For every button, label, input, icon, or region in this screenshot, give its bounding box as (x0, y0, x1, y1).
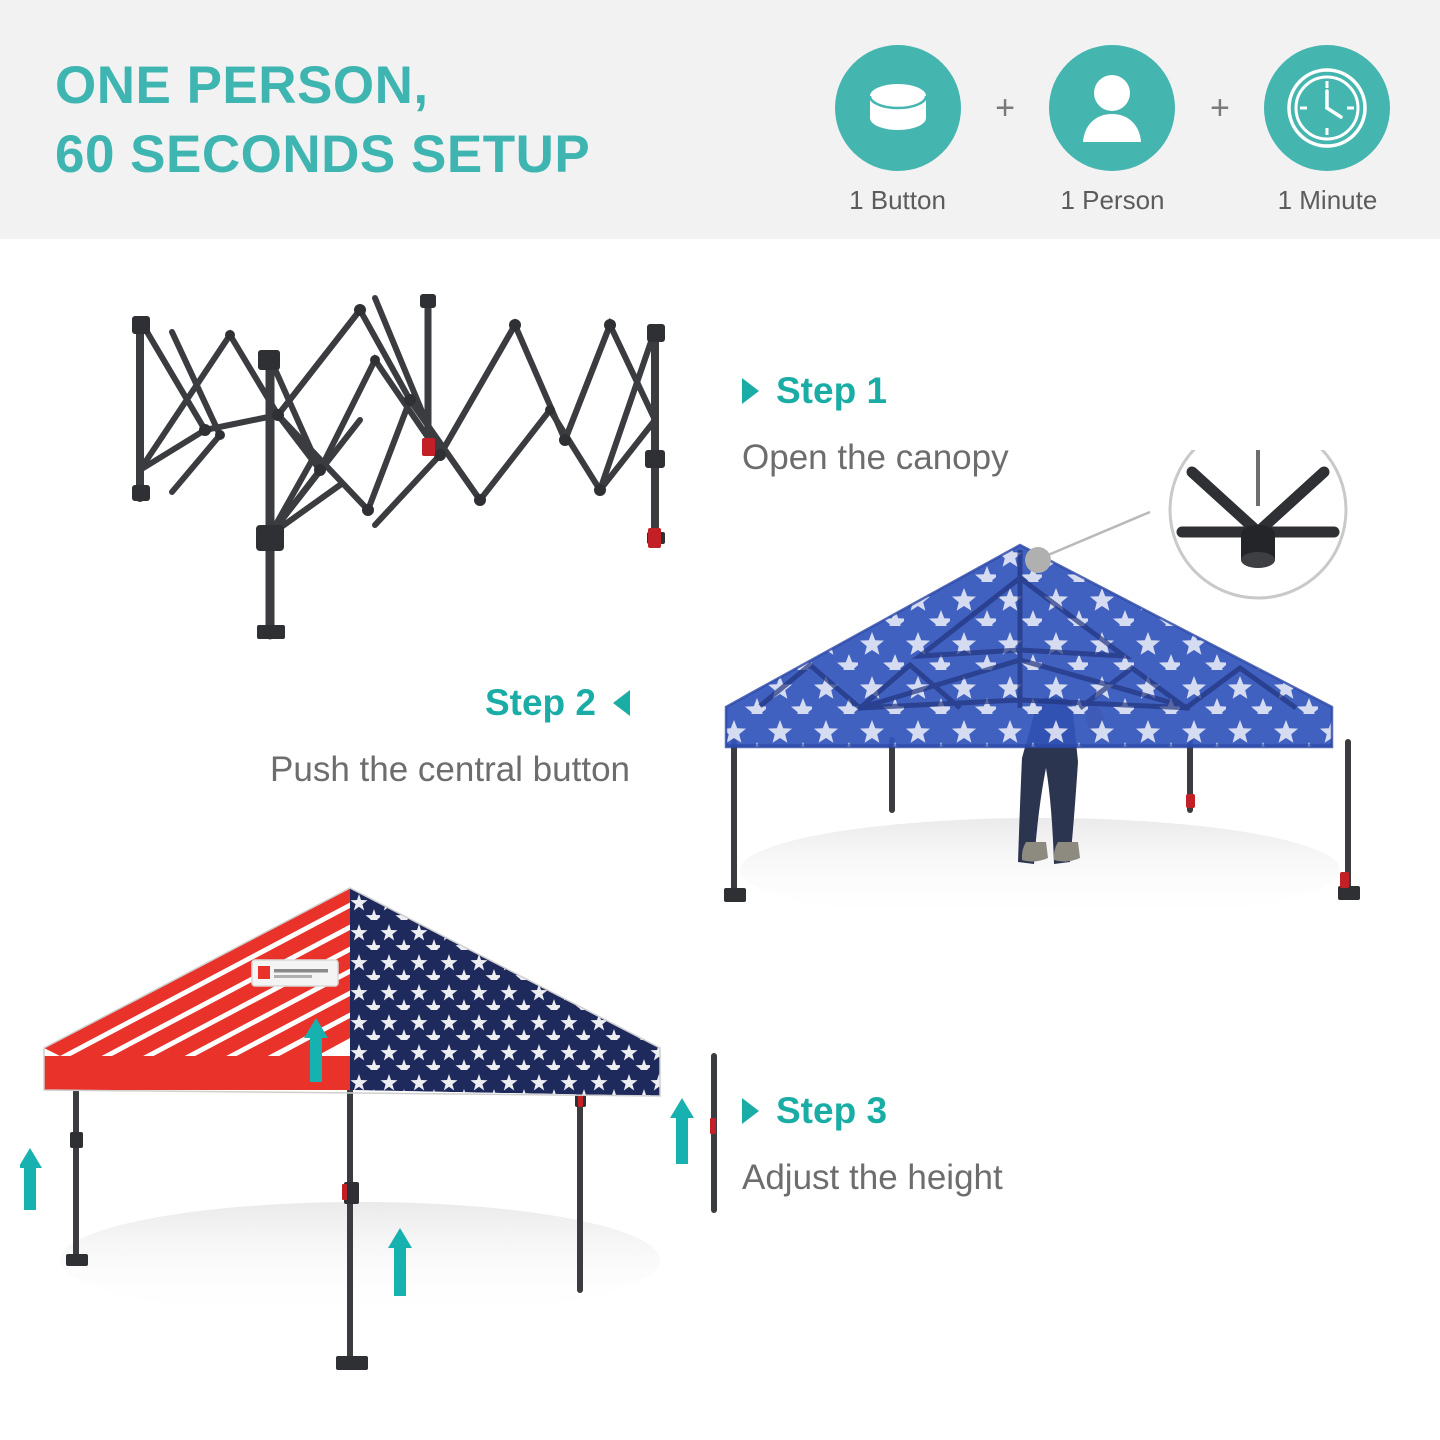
red-slider-accent (648, 528, 661, 548)
triangle-left-icon (613, 690, 630, 716)
step-2-block: Step 2 Push the central button (160, 682, 630, 790)
plus-separator-1: + (991, 45, 1019, 171)
feature-badge-row: 1 Button + 1 Person + 1 Minute (830, 45, 1395, 220)
button-icon (862, 78, 934, 138)
person-icon (1080, 72, 1144, 144)
leg-sliders (70, 1094, 586, 1204)
triangle-right-icon (742, 1098, 759, 1124)
person-icon-circle (1049, 45, 1175, 171)
ground-shadow (60, 1202, 660, 1318)
red-slider-accents (342, 1094, 716, 1200)
clock-icon (1284, 65, 1370, 151)
callout-anchor-dot (1025, 547, 1051, 573)
red-slider-accent (1186, 794, 1195, 808)
red-slider-accent (1340, 872, 1349, 888)
feature-person-label: 1 Person (1060, 185, 1164, 216)
push-button-glyph (1241, 552, 1275, 568)
flag-stars-side (340, 880, 680, 1110)
ground-shadow (740, 818, 1340, 922)
button-icon-circle (835, 45, 961, 171)
step-2-title: Step 2 (485, 682, 596, 724)
clock-icon-circle (1264, 45, 1390, 171)
feature-minute: 1 Minute (1260, 45, 1395, 216)
page-title: ONE PERSON, 60 SECONDS SETUP (55, 52, 590, 190)
feature-button-label: 1 Button (849, 185, 946, 216)
feature-person: 1 Person (1045, 45, 1180, 216)
central-button-callout (1170, 450, 1346, 598)
step-1-title-row: Step 1 (742, 370, 1009, 412)
collapsed-canopy-frame (110, 280, 670, 660)
step-2-description: Push the central button (160, 750, 630, 790)
american-flag-canopy (20, 860, 740, 1420)
step-3-title: Step 3 (776, 1090, 887, 1132)
adjust-arrow (670, 1098, 694, 1164)
adjust-arrow (20, 1148, 42, 1210)
red-slider-accent (422, 438, 435, 456)
triangle-right-icon (742, 378, 759, 404)
step-3-title-row: Step 3 (742, 1090, 1003, 1132)
step-2-title-row: Step 2 (160, 682, 630, 724)
step-3-description: Adjust the height (742, 1158, 1003, 1198)
feature-button: 1 Button (830, 45, 965, 216)
step-1-title: Step 1 (776, 370, 887, 412)
feature-minute-label: 1 Minute (1278, 185, 1378, 216)
callout-leader-line (1041, 512, 1150, 558)
blue-star-canopy-with-person (720, 450, 1400, 950)
plus-separator-2: + (1206, 45, 1234, 171)
step-3-block: Step 3 Adjust the height (742, 1090, 1003, 1198)
